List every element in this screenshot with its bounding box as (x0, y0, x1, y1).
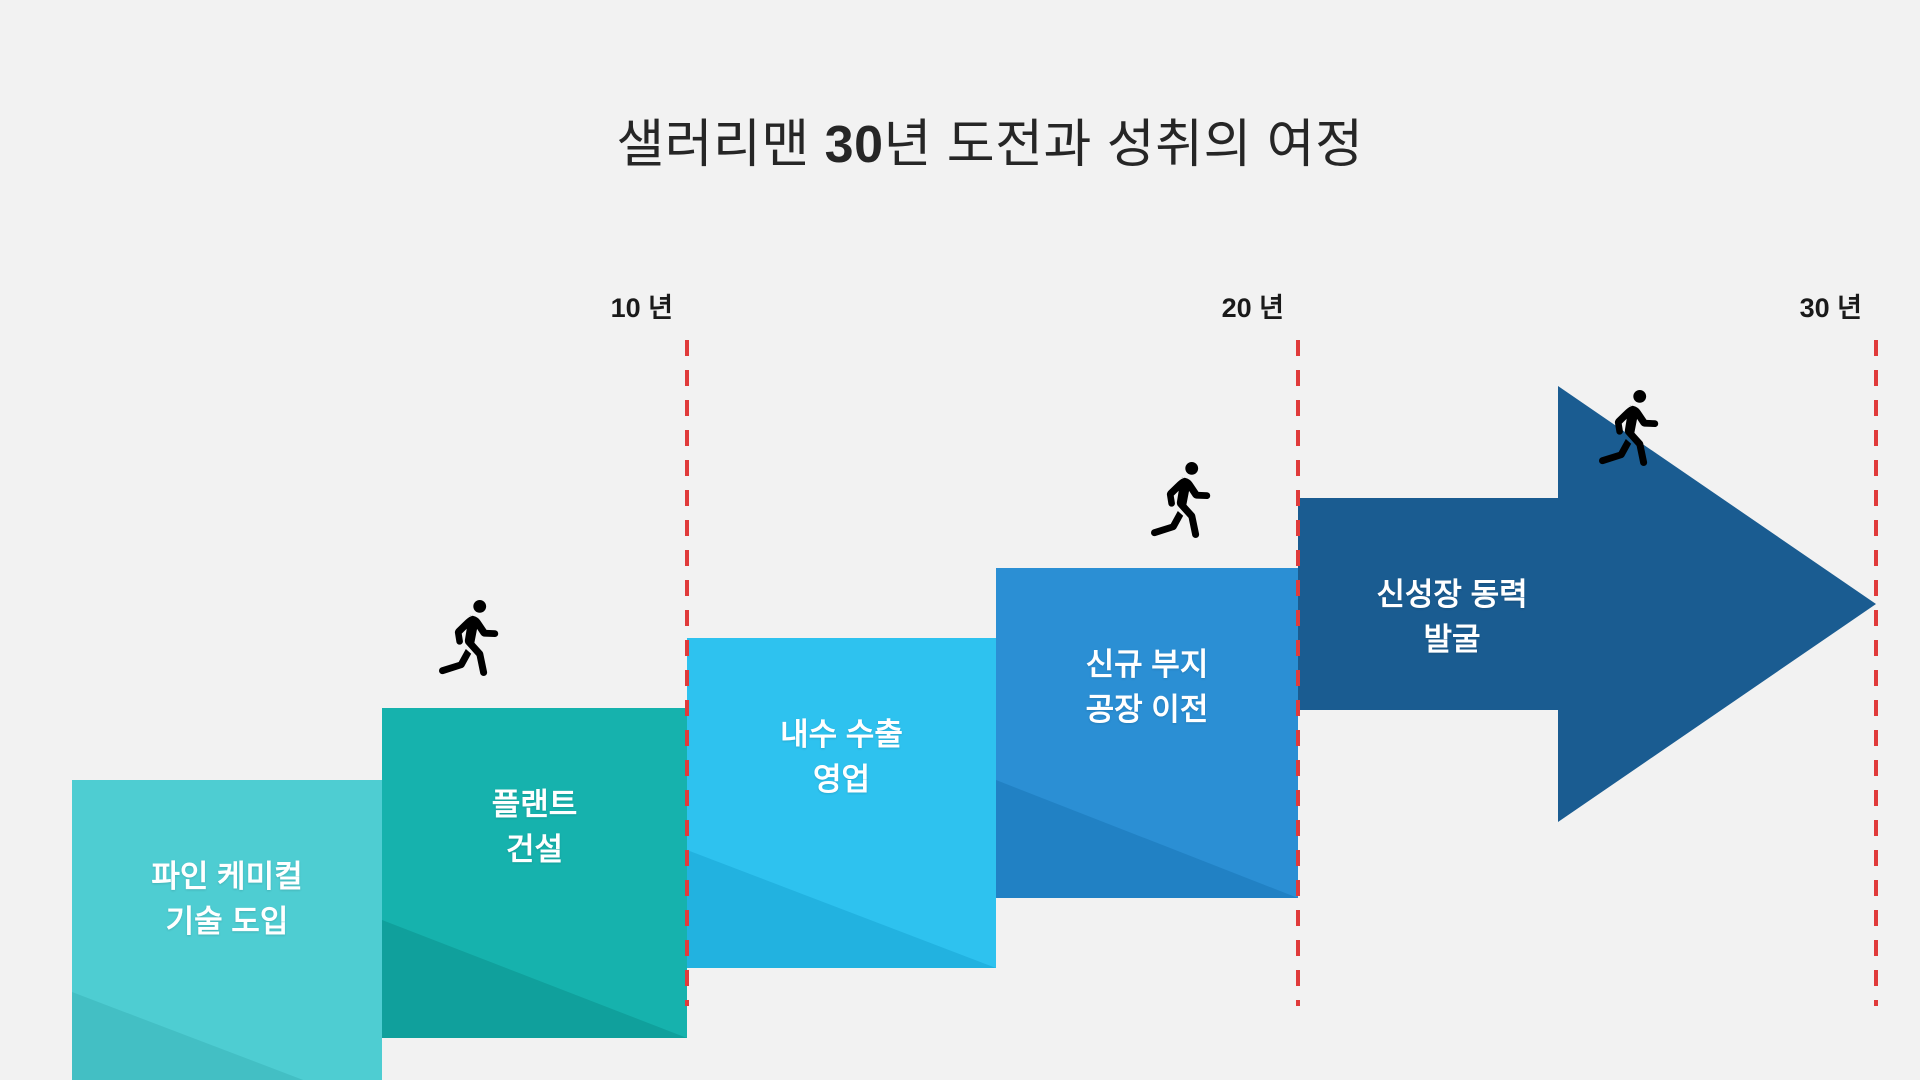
runner-silhouette (439, 600, 498, 676)
step-block-step-4 (996, 568, 1298, 780)
infographic-canvas: 샐러리맨 30년 도전과 성취의 여정 10 년20 년30 년 파인 케미컬 … (0, 0, 1920, 1080)
step-block-step-3 (687, 638, 996, 850)
runner-silhouette (1151, 462, 1210, 538)
runner-icon-1 (439, 600, 498, 676)
milestone-label-2: 20 년 (1222, 292, 1298, 324)
milestone-label-3: 30 년 (1800, 292, 1876, 324)
step-block-step-1 (72, 780, 382, 992)
staircase-chart (0, 0, 1920, 1080)
step-arrow-step-5 (1298, 386, 1876, 822)
runner-icon-2 (1151, 462, 1210, 538)
milestone-label-1: 10 년 (611, 292, 687, 324)
step-block-step-2 (382, 708, 687, 920)
